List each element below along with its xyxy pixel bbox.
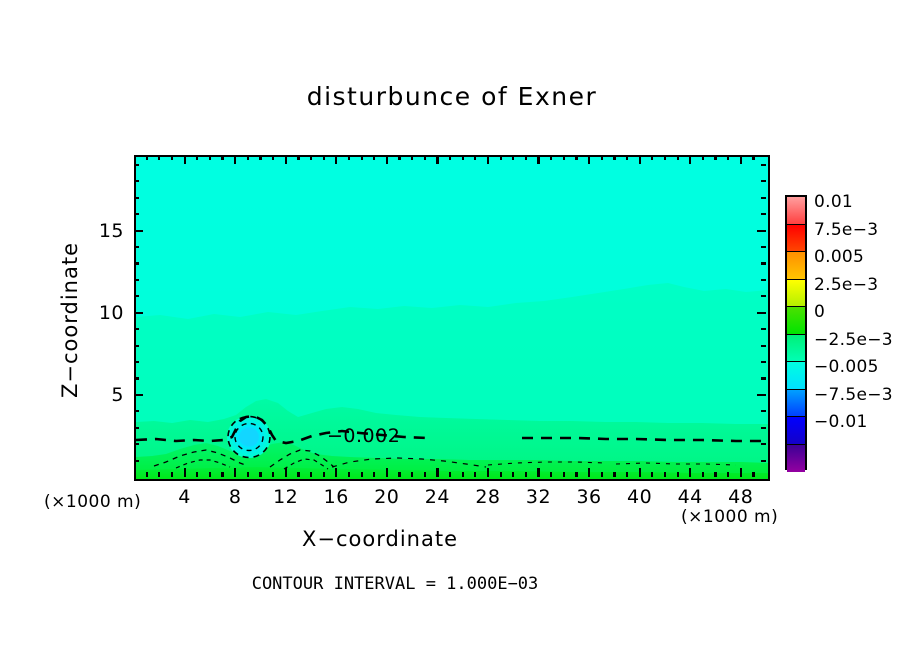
x-tick-bottom-22 [411, 472, 413, 477]
x-tick-bottom-24 [436, 468, 438, 477]
y-tick-left-3 [134, 427, 139, 429]
x-tick-bottom-45 [702, 472, 704, 477]
y-tick-left-12 [134, 279, 139, 281]
x-tick-label: 32 [526, 486, 551, 508]
x-tick-top-45 [702, 155, 704, 160]
x-tick-bottom-36 [588, 468, 590, 477]
x-tick-top-16 [335, 155, 337, 164]
x-tick-top-10 [259, 155, 261, 160]
x-tick-top-27 [474, 155, 476, 160]
x-tick-label: 48 [728, 486, 753, 508]
y-tick-right-2 [761, 443, 766, 445]
plot-canvas: disturbunce of Exner Z−coordinate X−coor… [0, 0, 904, 654]
colorbar-label: 0.01 [814, 192, 853, 212]
x-tick-top-4 [184, 155, 186, 164]
colorbar-label: −7.5e−3 [814, 385, 893, 405]
x-tick-bottom-17 [348, 472, 350, 477]
x-tick-top-15 [323, 155, 325, 160]
x-tick-top-21 [398, 155, 400, 160]
x-tick-top-29 [500, 155, 502, 160]
x-tick-label: 24 [425, 486, 450, 508]
x-tick-top-43 [677, 155, 679, 160]
x-tick-bottom-7 [221, 472, 223, 477]
colorbar [785, 195, 807, 470]
x-tick-label: 40 [627, 486, 652, 508]
contour-plot-area: −0.002 [134, 155, 770, 481]
y-tick-left-9 [134, 328, 139, 330]
x-tick-top-14 [310, 155, 312, 160]
y-tick-right-7 [761, 361, 766, 363]
x-tick-bottom-46 [714, 472, 716, 477]
x-tick-bottom-38 [613, 472, 615, 477]
x-tick-bottom-4 [184, 468, 186, 477]
y-tick-left-15 [134, 230, 143, 232]
x-tick-top-6 [209, 155, 211, 160]
x-tick-top-49 [752, 155, 754, 160]
colorbar-label: 0 [814, 302, 825, 322]
x-tick-bottom-35 [575, 472, 577, 477]
x-tick-bottom-44 [689, 468, 691, 477]
x-tick-bottom-32 [537, 468, 539, 477]
colorbar-band-4 [787, 307, 805, 335]
x-tick-top-40 [639, 155, 641, 164]
x-tick-top-1 [146, 155, 148, 160]
x-tick-top-36 [588, 155, 590, 164]
x-tick-top-20 [386, 155, 388, 164]
x-tick-top-44 [689, 155, 691, 164]
y-tick-right-19 [761, 164, 766, 166]
x-tick-top-35 [575, 155, 577, 160]
chart-title: disturbunce of Exner [0, 82, 904, 111]
x-tick-bottom-12 [285, 468, 287, 477]
y-tick-left-19 [134, 164, 139, 166]
x-tick-top-22 [411, 155, 413, 160]
contour-interval-note: CONTOUR INTERVAL = 1.000E−03 [0, 574, 790, 594]
y-tick-right-18 [761, 180, 766, 182]
x-tick-top-19 [373, 155, 375, 160]
y-tick-right-14 [761, 246, 766, 248]
x-tick-top-12 [285, 155, 287, 164]
x-tick-top-8 [234, 155, 236, 164]
y-tick-right-6 [761, 377, 766, 379]
x-tick-bottom-23 [424, 472, 426, 477]
x-tick-bottom-42 [664, 472, 666, 477]
y-tick-label: 5 [86, 384, 124, 406]
x-tick-bottom-47 [727, 472, 729, 477]
x-tick-top-28 [487, 155, 489, 164]
x-tick-bottom-34 [563, 472, 565, 477]
x-tick-top-9 [247, 155, 249, 160]
y-tick-left-16 [134, 213, 139, 215]
x-tick-top-24 [436, 155, 438, 164]
contour-field [136, 157, 768, 479]
colorbar-band-7 [787, 390, 805, 418]
colorbar-band-2 [787, 252, 805, 280]
x-tick-label: 20 [374, 486, 399, 508]
y-tick-left-6 [134, 377, 139, 379]
x-tick-bottom-31 [525, 472, 527, 477]
x-tick-top-42 [664, 155, 666, 160]
x-tick-bottom-3 [171, 472, 173, 477]
x-tick-bottom-49 [752, 472, 754, 477]
x-tick-bottom-5 [196, 472, 198, 477]
colorbar-label: −2.5e−3 [814, 330, 893, 350]
y-tick-left-4 [134, 410, 139, 412]
colorbar-band-6 [787, 362, 805, 390]
y-tick-left-13 [134, 262, 139, 264]
colorbar-band-3 [787, 280, 805, 308]
x-tick-top-13 [297, 155, 299, 160]
x-tick-bottom-15 [323, 472, 325, 477]
x-tick-bottom-1 [146, 472, 148, 477]
colorbar-label: 0.005 [814, 247, 864, 267]
x-tick-label: 8 [229, 486, 242, 508]
x-axis-label: X−coordinate [0, 527, 760, 551]
x-tick-label: 28 [475, 486, 500, 508]
y-tick-left-8 [134, 345, 139, 347]
x-axis-unit: (×1000 m) [681, 507, 778, 527]
x-tick-top-37 [601, 155, 603, 160]
x-tick-label: 16 [324, 486, 349, 508]
x-tick-bottom-14 [310, 472, 312, 477]
x-tick-top-48 [740, 155, 742, 164]
x-tick-bottom-41 [651, 472, 653, 477]
x-tick-bottom-6 [209, 472, 211, 477]
x-tick-label: 12 [273, 486, 298, 508]
x-tick-top-2 [158, 155, 160, 160]
y-tick-right-12 [761, 279, 766, 281]
x-tick-top-39 [626, 155, 628, 160]
x-tick-top-46 [714, 155, 716, 160]
y-tick-label: 10 [86, 302, 124, 324]
x-tick-bottom-27 [474, 472, 476, 477]
x-tick-top-18 [361, 155, 363, 160]
y-tick-right-5 [757, 394, 766, 396]
x-tick-label: 4 [178, 486, 191, 508]
x-tick-top-5 [196, 155, 198, 160]
x-tick-bottom-21 [398, 472, 400, 477]
y-axis-unit: (×1000 m) [44, 492, 141, 512]
x-tick-bottom-10 [259, 472, 261, 477]
x-tick-label: 44 [678, 486, 703, 508]
x-tick-bottom-11 [272, 472, 274, 477]
x-tick-bottom-29 [500, 472, 502, 477]
y-tick-right-1 [761, 460, 766, 462]
x-tick-label: 36 [576, 486, 601, 508]
y-tick-right-4 [761, 410, 766, 412]
x-tick-top-33 [550, 155, 552, 160]
x-tick-bottom-30 [512, 472, 514, 477]
x-tick-top-32 [537, 155, 539, 164]
x-tick-bottom-19 [373, 472, 375, 477]
x-tick-top-17 [348, 155, 350, 160]
x-tick-top-31 [525, 155, 527, 160]
x-tick-top-47 [727, 155, 729, 160]
y-tick-right-10 [757, 312, 766, 314]
y-tick-label: 15 [86, 220, 124, 242]
x-tick-bottom-28 [487, 468, 489, 477]
y-tick-left-5 [134, 394, 143, 396]
colorbar-band-0 [787, 197, 805, 225]
y-tick-right-8 [761, 345, 766, 347]
y-tick-left-2 [134, 443, 139, 445]
x-tick-top-34 [563, 155, 565, 160]
x-tick-bottom-20 [386, 468, 388, 477]
x-tick-top-25 [449, 155, 451, 160]
x-tick-top-3 [171, 155, 173, 160]
x-tick-bottom-8 [234, 468, 236, 477]
y-tick-left-1 [134, 460, 139, 462]
contour-value-label: −0.002 [327, 425, 400, 447]
y-tick-right-11 [761, 295, 766, 297]
colorbar-label: 2.5e−3 [814, 275, 878, 295]
colorbar-band-1 [787, 225, 805, 253]
colorbar-label: 7.5e−3 [814, 220, 878, 240]
x-tick-bottom-33 [550, 472, 552, 477]
y-axis-label: Z−coordinate [58, 220, 82, 420]
x-tick-bottom-2 [158, 472, 160, 477]
y-tick-right-9 [761, 328, 766, 330]
y-tick-left-14 [134, 246, 139, 248]
y-tick-right-17 [761, 197, 766, 199]
y-tick-left-11 [134, 295, 139, 297]
y-tick-right-15 [757, 230, 766, 232]
colorbar-band-5 [787, 335, 805, 363]
x-tick-top-30 [512, 155, 514, 160]
y-tick-left-18 [134, 180, 139, 182]
x-tick-top-41 [651, 155, 653, 160]
x-tick-bottom-25 [449, 472, 451, 477]
x-tick-top-38 [613, 155, 615, 160]
x-tick-bottom-48 [740, 468, 742, 477]
x-tick-bottom-40 [639, 468, 641, 477]
x-tick-bottom-39 [626, 472, 628, 477]
x-tick-bottom-18 [361, 472, 363, 477]
x-tick-top-7 [221, 155, 223, 160]
y-tick-left-7 [134, 361, 139, 363]
x-tick-top-26 [462, 155, 464, 160]
x-tick-top-11 [272, 155, 274, 160]
x-tick-bottom-9 [247, 472, 249, 477]
colorbar-band-9 [787, 445, 805, 473]
x-tick-bottom-13 [297, 472, 299, 477]
colorbar-label: −0.01 [814, 412, 868, 432]
y-tick-left-10 [134, 312, 143, 314]
y-tick-right-3 [761, 427, 766, 429]
x-tick-bottom-16 [335, 468, 337, 477]
x-tick-bottom-37 [601, 472, 603, 477]
x-tick-bottom-26 [462, 472, 464, 477]
y-tick-right-13 [761, 262, 766, 264]
x-tick-top-23 [424, 155, 426, 160]
x-tick-bottom-43 [677, 472, 679, 477]
colorbar-band-8 [787, 417, 805, 445]
y-tick-left-17 [134, 197, 139, 199]
colorbar-label: −0.005 [814, 357, 879, 377]
y-tick-right-16 [761, 213, 766, 215]
